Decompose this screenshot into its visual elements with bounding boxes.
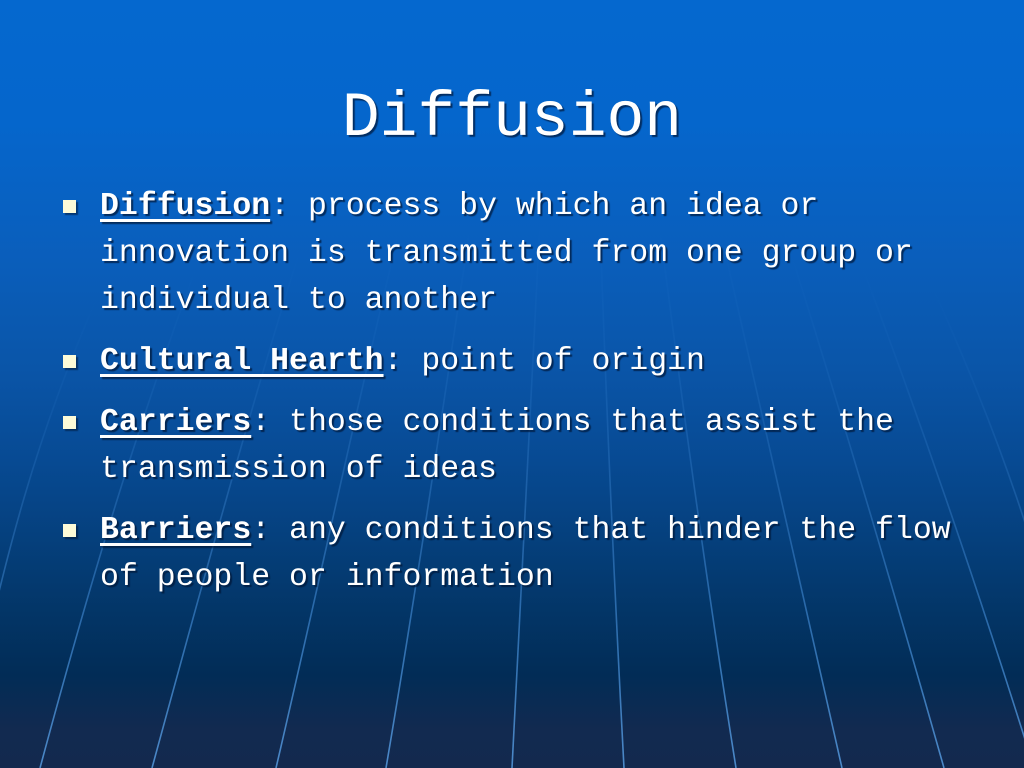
square-bullet-icon: [63, 355, 76, 368]
bullet-separator: :: [251, 405, 289, 440]
bullet-term: Barriers: [100, 513, 251, 548]
bullet-term: Carriers: [100, 405, 251, 440]
bullet-list: Diffusion: process by which an idea or i…: [58, 183, 992, 607]
bullet-text: Barriers: any conditions that hinder the…: [100, 507, 992, 601]
bullet-text: Carriers: those conditions that assist t…: [100, 399, 992, 493]
bullet-term: Diffusion: [100, 189, 270, 224]
bullet-separator: :: [384, 344, 422, 379]
bullet-definition: point of origin: [421, 344, 705, 379]
title-block: Diffusion: [0, 44, 1024, 195]
square-bullet-icon: [63, 416, 76, 429]
bullet-text: Cultural Hearth: point of origin: [100, 338, 992, 385]
list-item: Cultural Hearth: point of origin: [58, 338, 992, 385]
bullet-separator: :: [270, 189, 308, 224]
list-item: Diffusion: process by which an idea or i…: [58, 183, 992, 324]
bullet-separator: :: [251, 513, 289, 548]
presentation-slide: Diffusion Diffusion: process by which an…: [0, 0, 1024, 768]
square-bullet-icon: [63, 524, 76, 537]
bullet-text: Diffusion: process by which an idea or i…: [100, 183, 992, 324]
list-item: Carriers: those conditions that assist t…: [58, 399, 992, 493]
page-title: Diffusion: [342, 86, 682, 152]
list-item: Barriers: any conditions that hinder the…: [58, 507, 992, 601]
bullet-term: Cultural Hearth: [100, 344, 384, 379]
square-bullet-icon: [63, 200, 76, 213]
